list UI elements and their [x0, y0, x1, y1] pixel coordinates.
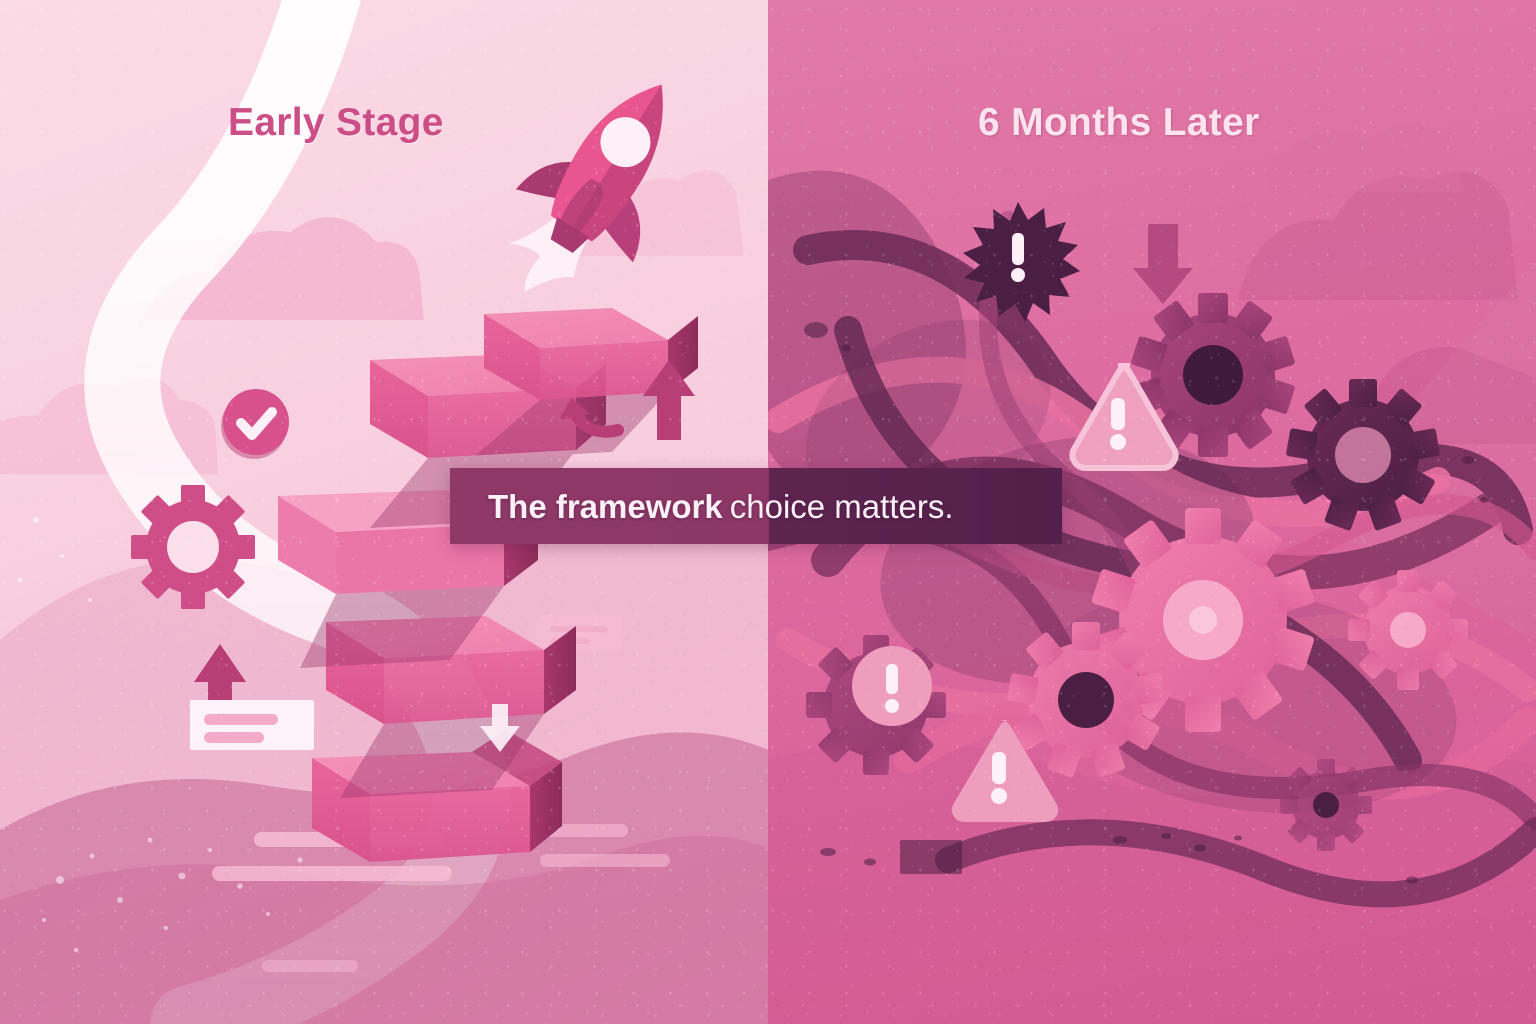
right-panel-heading: 6 Months Later	[978, 101, 1260, 145]
curved-arrow-icon	[556, 362, 626, 442]
illustration-canvas: Early Stage 6 Months Later The framework…	[0, 0, 1536, 1024]
banner-text-light: choice matters.	[730, 488, 954, 525]
center-banner: The frameworkchoice matters.	[450, 468, 1062, 544]
check-badge-icon	[216, 384, 296, 464]
gear-icon	[1348, 570, 1468, 690]
down-arrow-icon	[1130, 222, 1196, 306]
card-icon	[190, 700, 314, 750]
warning-triangle-icon	[1056, 360, 1180, 472]
gear-icon	[1280, 759, 1372, 851]
rocket-icon	[510, 58, 700, 288]
left-panel-heading: Early Stage	[228, 101, 444, 145]
burst-alert-icon	[958, 198, 1078, 318]
banner-text: The frameworkchoice matters.	[450, 490, 954, 523]
up-arrow-icon	[640, 356, 698, 442]
banner-text-bold: The framework	[488, 488, 723, 525]
warning-triangle-icon	[936, 714, 1062, 826]
chip-card-icon	[536, 614, 622, 652]
circle-alert-icon	[846, 640, 938, 732]
gear-icon	[128, 482, 258, 612]
down-arrow-icon	[478, 700, 522, 756]
